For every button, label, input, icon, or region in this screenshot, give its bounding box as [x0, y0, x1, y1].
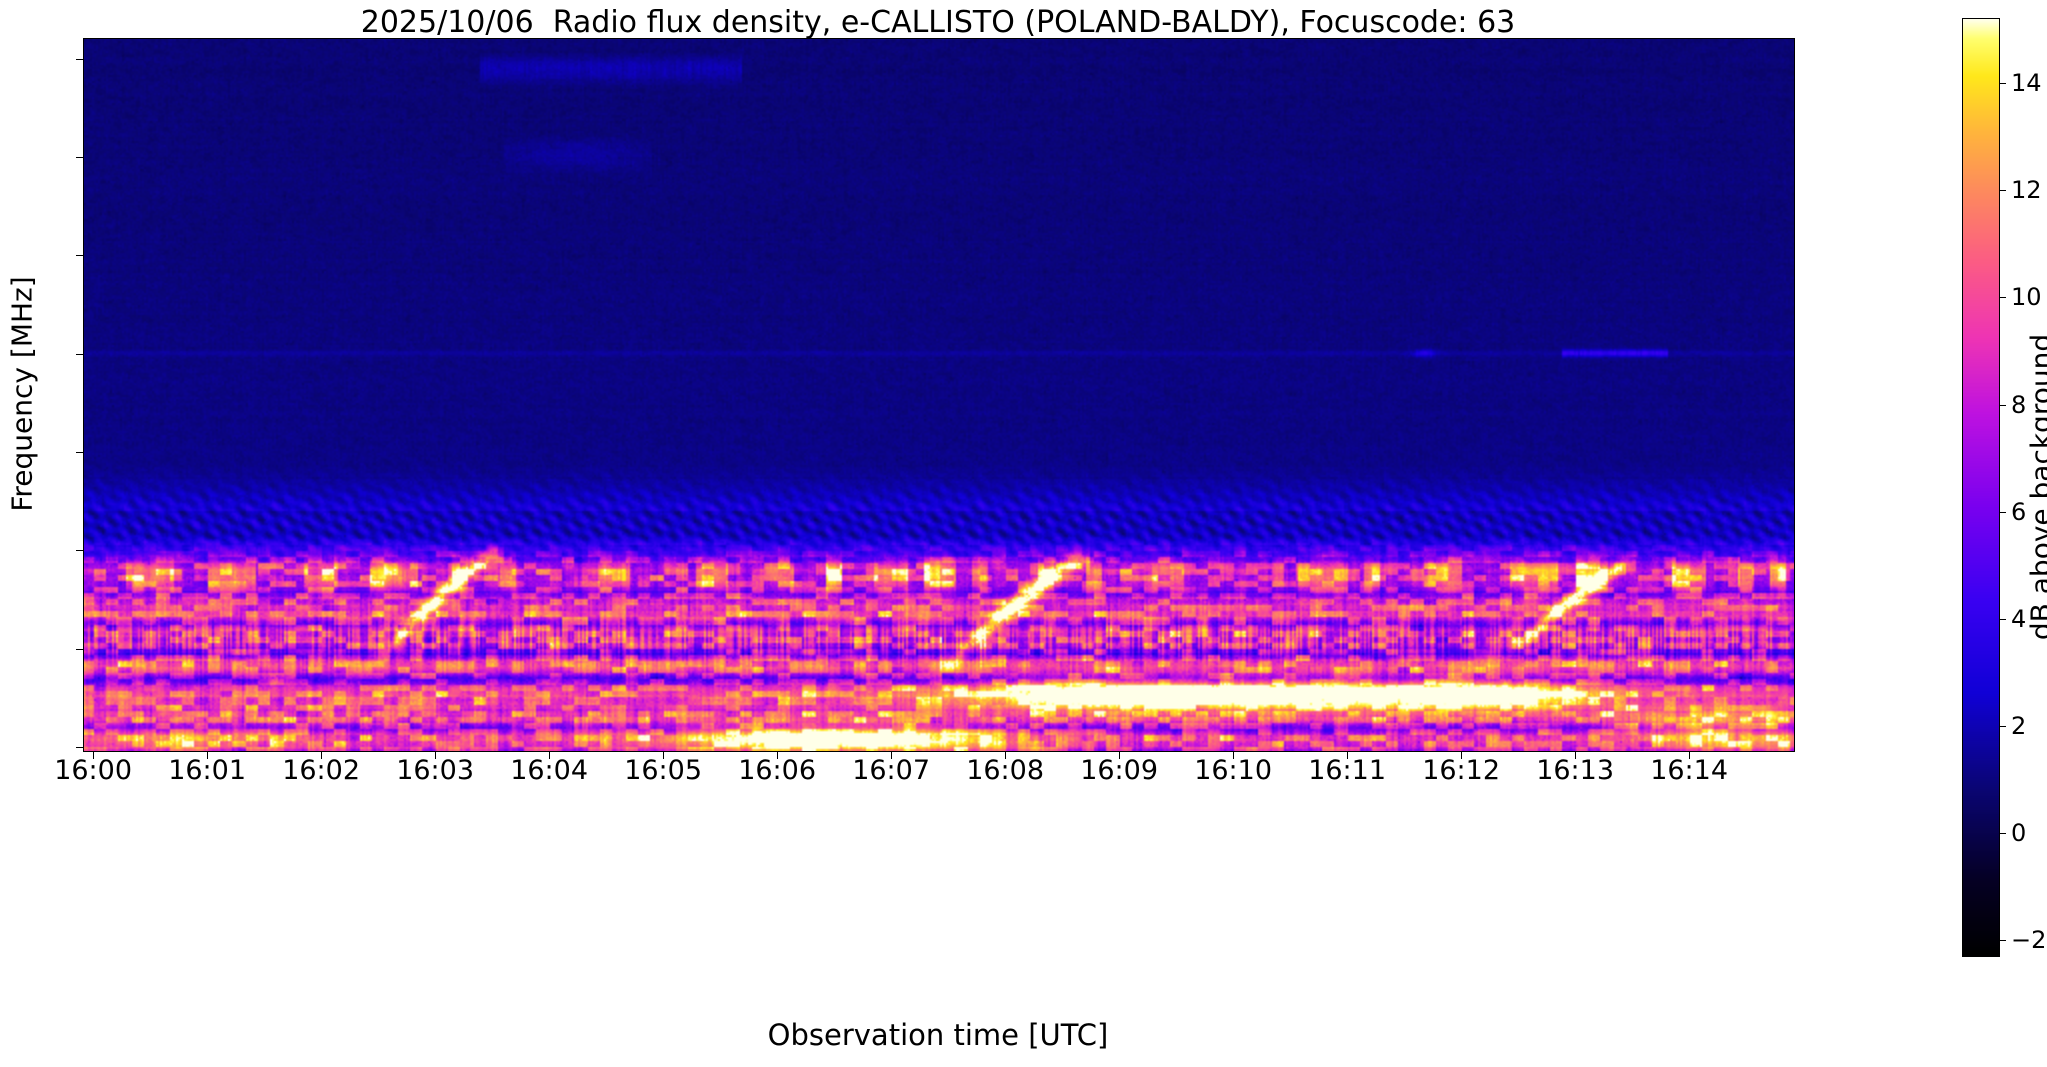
colorbar-tick-mark: [1999, 726, 2006, 727]
x-axis-tick-mark: [93, 751, 94, 759]
colorbar-tick-label: −2: [2011, 928, 2046, 952]
x-axis-tick-mark: [1347, 751, 1348, 759]
colorbar-tick-mark: [1999, 297, 2006, 298]
y-axis-tick-mark: [76, 157, 84, 158]
figure-canvas: 2025/10/06 Radio flux density, e-CALLIST…: [0, 0, 2047, 1067]
y-axis-tick-mark: [76, 747, 84, 748]
x-axis-tick-mark: [207, 751, 208, 759]
x-axis-tick-mark: [1119, 751, 1120, 759]
y-axis-label: Frequency [MHz]: [6, 276, 39, 511]
colorbar-tick-label: 2: [2011, 714, 2026, 738]
x-axis-label: Observation time [UTC]: [768, 1018, 1109, 1052]
x-axis-tick-mark: [1005, 751, 1006, 759]
spectrogram-plot-area[interactable]: [83, 38, 1795, 752]
colorbar-tick-label: 10: [2011, 285, 2042, 309]
colorbar-tick-mark: [1999, 405, 2006, 406]
colorbar-gradient: [1963, 19, 1999, 956]
colorbar-tick-mark: [1999, 619, 2006, 620]
x-axis-tick-mark: [549, 751, 550, 759]
colorbar-tick-mark: [1999, 83, 2006, 84]
colorbar-tick-mark: [1999, 833, 2006, 834]
x-axis-tick-mark: [1233, 751, 1234, 759]
colorbar[interactable]: [1962, 18, 2000, 957]
x-axis-tick-mark: [1461, 751, 1462, 759]
page-title: 2025/10/06 Radio flux density, e-CALLIST…: [83, 6, 1793, 40]
colorbar-tick-label: 0: [2011, 821, 2026, 845]
y-axis-tick-mark: [76, 452, 84, 453]
y-axis-tick-mark: [76, 255, 84, 256]
colorbar-tick-label: 6: [2011, 500, 2026, 524]
x-axis-tick-label: 16:14: [1609, 756, 1769, 786]
x-axis-tick-mark: [321, 751, 322, 759]
colorbar-tick-label: 14: [2011, 71, 2042, 95]
y-axis-tick-mark: [76, 59, 84, 60]
x-axis-tick-mark: [1689, 751, 1690, 759]
colorbar-tick-mark: [1999, 190, 2006, 191]
colorbar-tick-mark: [1999, 512, 2006, 513]
x-axis-tick-mark: [663, 751, 664, 759]
colorbar-tick-label: 12: [2011, 178, 2042, 202]
colorbar-label: dB above background: [2025, 334, 2047, 640]
x-axis-tick-mark: [435, 751, 436, 759]
x-axis-tick-mark: [1575, 751, 1576, 759]
y-axis-tick-mark: [76, 649, 84, 650]
spectrogram-image: [84, 39, 1794, 751]
colorbar-tick-mark: [1999, 940, 2006, 941]
x-axis-tick-mark: [891, 751, 892, 759]
x-axis-tick-mark: [777, 751, 778, 759]
colorbar-tick-label: 4: [2011, 607, 2026, 631]
colorbar-tick-label: 8: [2011, 393, 2026, 417]
y-axis-tick-mark: [76, 550, 84, 551]
y-axis-tick-mark: [76, 354, 84, 355]
